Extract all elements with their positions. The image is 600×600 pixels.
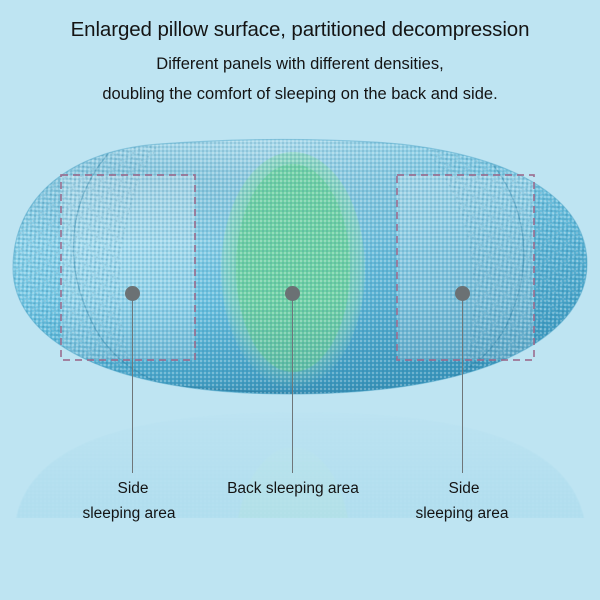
marker-dot-side-left[interactable]: [125, 286, 140, 301]
marker-dot-side-right[interactable]: [455, 286, 470, 301]
zone-label-back-center-line1: Back sleeping area: [207, 476, 379, 501]
subtitle-line-2: doubling the comfort of sleeping on the …: [0, 85, 600, 105]
zone-label-side-right: Side sleeping area: [387, 476, 537, 526]
headline-block: Enlarged pillow surface, partitioned dec…: [0, 0, 600, 105]
leader-line-side-left: [132, 300, 133, 473]
zone-label-side-left-line1: Side: [61, 476, 205, 501]
pillow-body: [0, 120, 600, 410]
infographic-canvas: Enlarged pillow surface, partitioned dec…: [0, 0, 600, 600]
zone-label-side-left-line2: sleeping area: [53, 501, 205, 526]
zone-label-side-right-line2: sleeping area: [387, 501, 537, 526]
subtitle-line-1: Different panels with different densitie…: [0, 55, 600, 75]
zone-label-side-right-line1: Side: [391, 476, 537, 501]
leader-line-side-right: [462, 300, 463, 473]
leader-line-back-center: [292, 300, 293, 473]
zone-label-side-left: Side sleeping area: [55, 476, 205, 526]
marker-dot-back-center[interactable]: [285, 286, 300, 301]
page-title: Enlarged pillow surface, partitioned dec…: [0, 18, 600, 43]
zone-label-back-center: Back sleeping area: [207, 476, 379, 501]
